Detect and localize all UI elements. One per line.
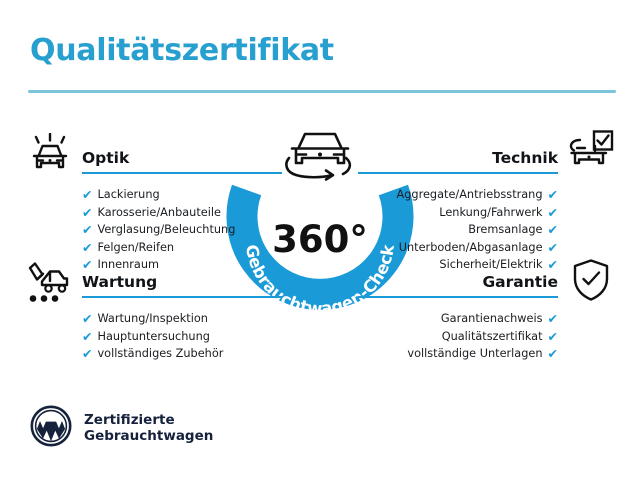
list-item: ✔Wartung/Inspektion (82, 310, 244, 328)
list-item-label: Qualitätszertifikat (442, 328, 543, 346)
section-technik-divider (358, 172, 558, 174)
check-icon: ✔ (82, 186, 92, 204)
list-item-label: Hauptuntersuchung (97, 328, 209, 346)
car-checkbox-icon (566, 130, 614, 180)
list-item: ✔Verglasung/Beleuchtung (82, 221, 244, 239)
vw-logo-icon (30, 405, 72, 451)
check-icon: ✔ (82, 345, 92, 363)
check-icon: ✔ (548, 345, 558, 363)
check-icon: ✔ (548, 310, 558, 328)
section-garantie: Garantie Garantienachweis✔ Qualitätszert… (396, 272, 558, 363)
shield-check-icon (570, 258, 612, 306)
list-item-label: Verglasung/Beleuchtung (97, 221, 235, 239)
list-item: Qualitätszertifikat✔ (396, 328, 558, 346)
footer-brand: Zertifizierte Gebrauchtwagen (30, 405, 213, 451)
list-item-label: Bremsanlage (468, 221, 542, 239)
section-wartung-divider (82, 296, 282, 298)
list-item: ✔Innenraum (82, 256, 244, 274)
badge-center-label: 360° (272, 218, 368, 261)
section-wartung-items: ✔Wartung/Inspektion ✔Hauptuntersuchung ✔… (82, 310, 244, 363)
list-item: ✔Karosserie/Anbauteile (82, 204, 244, 222)
list-item: Aggregate/Antriebsstrang✔ (396, 186, 558, 204)
list-item-label: Unterboden/Abgasanlage (399, 239, 543, 257)
section-optik-title: Optik (82, 148, 244, 168)
list-item-label: Sicherheit/Elektrik (439, 256, 542, 274)
list-item: ✔Felgen/Reifen (82, 239, 244, 257)
check-icon: ✔ (82, 239, 92, 257)
check-icon: ✔ (82, 221, 92, 239)
car-front-shine-icon (28, 133, 72, 179)
list-item-label: Aggregate/Antriebsstrang (397, 186, 543, 204)
check-icon: ✔ (548, 256, 558, 274)
footer-line-2: Gebrauchtwagen (84, 428, 213, 445)
section-technik-title: Technik (396, 148, 558, 168)
check-icon: ✔ (548, 186, 558, 204)
list-item: Lenkung/Fahrwerk✔ (396, 204, 558, 222)
list-item-label: vollständiges Zubehör (97, 345, 223, 363)
section-wartung-title: Wartung (82, 272, 244, 292)
section-wartung: Wartung ✔Wartung/Inspektion ✔Hauptunters… (82, 272, 244, 363)
check-icon: ✔ (82, 204, 92, 222)
list-item-label: Wartung/Inspektion (97, 310, 207, 328)
section-garantie-items: Garantienachweis✔ Qualitätszertifikat✔ v… (396, 310, 558, 363)
header-divider (28, 90, 616, 93)
certificate-page: Qualitätszertifikat (0, 0, 640, 480)
section-optik: Optik ✔Lackierung ✔Karosserie/Anbauteile… (82, 148, 244, 274)
check-icon: ✔ (82, 328, 92, 346)
list-item: Sicherheit/Elektrik✔ (396, 256, 558, 274)
list-item-label: Garantienachweis (441, 310, 543, 328)
list-item: ✔vollständiges Zubehör (82, 345, 244, 363)
check-icon: ✔ (548, 328, 558, 346)
list-item-label: Innenraum (97, 256, 159, 274)
list-item: Bremsanlage✔ (396, 221, 558, 239)
check-icon: ✔ (548, 204, 558, 222)
list-item-label: Felgen/Reifen (97, 239, 174, 257)
list-item-label: Karosserie/Anbauteile (97, 204, 220, 222)
check-icon: ✔ (82, 256, 92, 274)
section-optik-items: ✔Lackierung ✔Karosserie/Anbauteile ✔Verg… (82, 186, 244, 274)
section-garantie-divider (358, 296, 558, 298)
section-optik-divider (82, 172, 282, 174)
section-garantie-title: Garantie (396, 272, 558, 292)
list-item-label: Lenkung/Fahrwerk (439, 204, 542, 222)
list-item: vollständige Unterlagen✔ (396, 345, 558, 363)
page-title: Qualitätszertifikat (30, 33, 334, 68)
list-item: Unterboden/Abgasanlage✔ (396, 239, 558, 257)
section-technik-header: Technik (396, 148, 558, 174)
list-item-label: Lackierung (97, 186, 159, 204)
section-technik-items: Aggregate/Antriebsstrang✔ Lenkung/Fahrwe… (396, 186, 558, 274)
section-garantie-header: Garantie (396, 272, 558, 298)
section-technik: Technik Aggregate/Antriebsstrang✔ Lenkun… (396, 148, 558, 274)
check-icon: ✔ (548, 239, 558, 257)
list-item: ✔Lackierung (82, 186, 244, 204)
check-icon: ✔ (82, 310, 92, 328)
list-item-label: vollständige Unterlagen (407, 345, 542, 363)
list-item: Garantienachweis✔ (396, 310, 558, 328)
badge-360-gebrauchtwagen-check: 360° Gebrauchtwagen-Check (216, 120, 424, 320)
footer-text: Zertifizierte Gebrauchtwagen (84, 412, 213, 445)
footer-line-1: Zertifizierte (84, 412, 213, 429)
list-item: ✔Hauptuntersuchung (82, 328, 244, 346)
section-wartung-header: Wartung (82, 272, 244, 298)
car-service-pen-icon (26, 262, 72, 310)
section-optik-header: Optik (82, 148, 244, 174)
check-icon: ✔ (548, 221, 558, 239)
